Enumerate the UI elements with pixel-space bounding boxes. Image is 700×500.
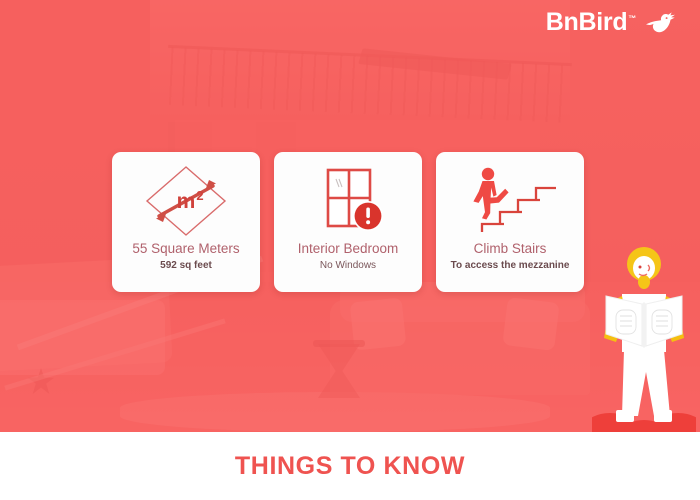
bg-rug	[120, 392, 550, 432]
bg-railing-top	[168, 45, 572, 66]
info-card-subtitle: To access the mezzanine	[451, 260, 570, 271]
info-cards-row: m 2 55 Square Meters 592 sq feet	[112, 152, 584, 292]
bg-sofa	[330, 300, 590, 395]
brand-name-text: BnBird	[546, 8, 628, 36]
bg-ceiling	[150, 0, 570, 120]
bg-ceiling-beam	[358, 48, 512, 79]
square-meters-diamond-icon: m 2	[112, 162, 260, 240]
bg-cushion-left	[350, 297, 407, 350]
info-card-climb-stairs[interactable]: Climb Stairs To access the mezzanine	[436, 152, 584, 292]
bird-icon	[644, 11, 682, 35]
bg-couch-left-seat	[0, 300, 165, 375]
bg-stool	[318, 344, 360, 398]
bottom-banner: THINGS TO KNOW	[0, 432, 700, 500]
brand-name: BnBird™	[546, 10, 636, 35]
bg-lamp	[40, 180, 110, 272]
bg-stool-top	[313, 340, 365, 347]
bg-railing	[169, 47, 571, 123]
bg-shelf-line-2	[4, 318, 225, 390]
banner-heading: THINGS TO KNOW	[235, 452, 465, 481]
info-card-subtitle: No Windows	[320, 260, 376, 271]
svg-text:2: 2	[196, 188, 203, 203]
brand-logo[interactable]: BnBird™	[546, 10, 682, 35]
info-card-subtitle: 592 sq feet	[160, 260, 212, 271]
window-no-windows-alert-icon	[274, 162, 422, 240]
info-card-interior-bedroom[interactable]: Interior Bedroom No Windows	[274, 152, 422, 292]
person-reading-book-illustration	[592, 238, 696, 432]
svg-text:m: m	[177, 190, 196, 213]
bg-cushion-right	[502, 297, 559, 351]
app-root: BnBird™ m 2 55	[0, 0, 700, 500]
info-card-title: Climb Stairs	[474, 242, 547, 257]
info-card-square-meters[interactable]: m 2 55 Square Meters 592 sq feet	[112, 152, 260, 292]
climb-stairs-icon	[436, 162, 584, 240]
trademark-symbol: ™	[628, 14, 636, 23]
bg-star-ornament	[28, 368, 54, 394]
info-card-title: Interior Bedroom	[298, 242, 399, 257]
info-card-title: 55 Square Meters	[132, 242, 239, 257]
